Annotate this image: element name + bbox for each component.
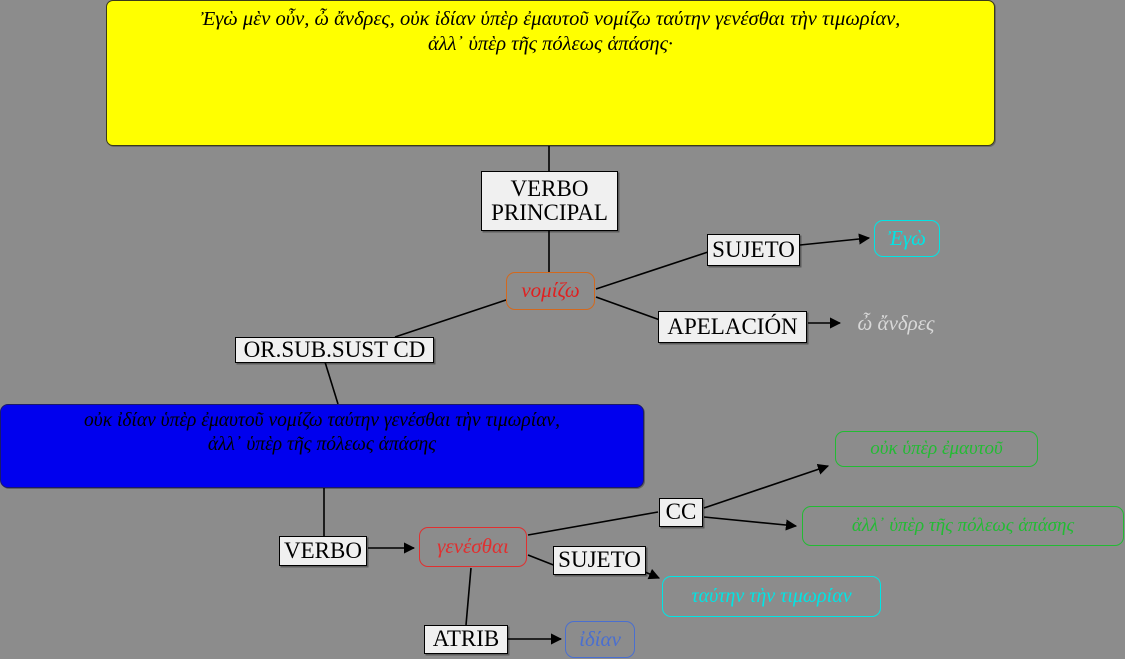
label-atrib[interactable]: ATRIB xyxy=(424,625,508,654)
node-nomizo[interactable]: νομίζω xyxy=(506,272,595,310)
edge-cc-cc-two xyxy=(704,517,796,526)
edge-cc-cc-one xyxy=(704,466,828,508)
syntax-diagram-canvas: Ἐγὼ μὲν οὖν, ὦ ἄνδρες, οὐκ ἰδίαν ὑπὲρ ἐμ… xyxy=(0,0,1125,659)
edge-genesthai-cc xyxy=(528,512,658,535)
label-verbo-sub[interactable]: VERBO xyxy=(279,536,367,566)
sentence-box: Ἐγὼ μὲν οὖν, ὦ ἄνδρες, οὐκ ἰδίαν ὑπὲρ ἐμ… xyxy=(106,0,995,146)
label-sujeto-main[interactable]: SUJETO xyxy=(707,234,800,266)
node-genesthai[interactable]: γενέσθαι xyxy=(419,527,527,567)
edge-sujeto-ego xyxy=(800,238,869,245)
edge-genesthai-atrib xyxy=(466,568,471,625)
edge-genesthai-sujeto xyxy=(528,555,556,566)
node-cc-two[interactable]: ἀλλ᾿ ὑπὲρ τῆς πόλεως ἁπάσης xyxy=(802,506,1124,546)
label-or-sub-sust-cd[interactable]: OR.SUB.SUST CD xyxy=(235,337,434,363)
edge-nomizo-apelacion xyxy=(596,297,660,320)
label-cc[interactable]: CC xyxy=(659,498,703,527)
edge-nomizo-orsubsust xyxy=(395,300,506,337)
subordinate-clause-box: οὐκ ἰδίαν ὑπὲρ ἐμαυτοῦ νομίζω ταύτην γεν… xyxy=(0,404,644,488)
node-idian[interactable]: ἰδίαν xyxy=(565,621,635,658)
edge-sujeto-sub-word xyxy=(645,572,659,578)
node-ego[interactable]: Ἐγὼ xyxy=(874,220,940,257)
label-apelacion[interactable]: APELACIÓN xyxy=(658,311,807,343)
label-verbo-principal[interactable]: VERBO PRINCIPAL xyxy=(481,171,618,231)
node-tauten-ten-timorian[interactable]: ταύτην τὴν τιμωρίαν xyxy=(662,576,881,617)
node-o-andres: ὦ ἄνδρες xyxy=(841,308,951,340)
edge-orsubsust-clause xyxy=(325,362,338,404)
edge-nomizo-sujeto xyxy=(596,252,708,289)
node-cc-one[interactable]: οὐκ ὑπὲρ ἐμαυτοῦ xyxy=(835,431,1038,467)
label-sujeto-sub[interactable]: SUJETO xyxy=(553,546,646,575)
